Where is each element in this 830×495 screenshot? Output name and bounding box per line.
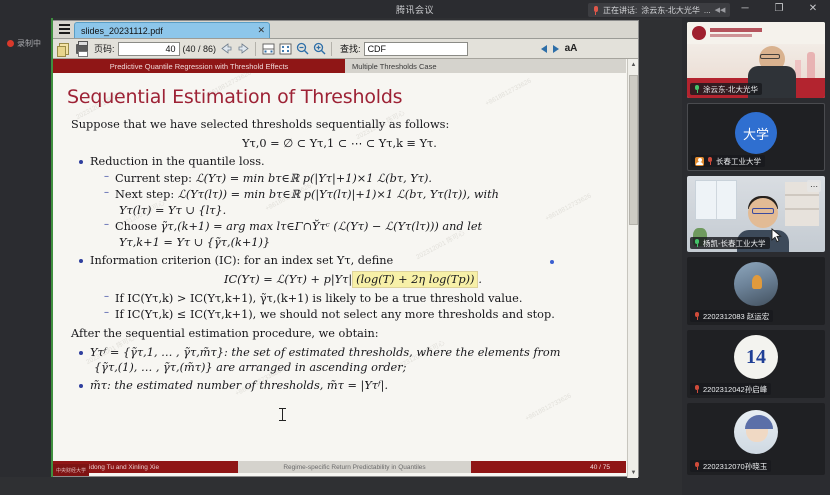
slide-title: Sequential Estimation of Thresholds — [67, 86, 616, 108]
pdf-vertical-scrollbar[interactable]: ▲ ▼ — [627, 59, 638, 478]
participant-name-badge: 2202312083 赵运宏 — [690, 310, 773, 322]
page-total-label: (40 / 86) — [183, 44, 217, 54]
slide-page: Predictive Quantile Regression with Thre… — [53, 59, 626, 476]
scroll-down-icon[interactable]: ▼ — [628, 467, 639, 478]
zoom-in-icon[interactable] — [312, 42, 326, 56]
copy-icon[interactable] — [56, 41, 71, 56]
slide-after-text: After the sequential estimation procedur… — [71, 326, 616, 342]
avatar — [734, 410, 778, 454]
print-icon[interactable] — [74, 41, 89, 56]
left-rail: 录制中 — [0, 18, 52, 477]
slide-result-list: Υτᶠ = {γ̃τ,1, … , γ̃τ,m̃τ}: the set of e… — [77, 345, 616, 394]
participant-name: 2202312042孙启峰 — [703, 384, 767, 395]
list-item: Current step: ℒ(Υτ) = min bτ∈ℝ p(|Υτ|+1)… — [104, 171, 616, 187]
text-cursor-icon — [279, 408, 286, 421]
bullet-reduction-text: Reduction in the quantile loss. — [90, 155, 265, 168]
sub-next-equation-2: Υτ(lτ) = Υτ ∪ {lτ}. — [119, 203, 616, 219]
scroll-up-icon[interactable]: ▲ — [628, 59, 639, 70]
close-button[interactable]: ✕ — [796, 0, 830, 18]
participant-video-sidebar: 涂云东-北大光华 大学 长春工业大学 ⋯ — [682, 18, 830, 495]
pdf-tab[interactable]: slides_20231112.pdf ✕ — [74, 22, 270, 38]
avatar: 14 — [734, 335, 778, 379]
arrow-left-icon[interactable] — [219, 42, 233, 56]
university-logo-icon — [692, 26, 706, 40]
slide-footer-logo: 中央财经大学 — [53, 464, 89, 476]
avatar — [734, 262, 778, 306]
participant-name: 2202312083 赵运宏 — [703, 311, 769, 322]
list-item: Information criterion (IC): for an index… — [77, 253, 616, 323]
list-item: If IC(Υτ,k) ≤ IC(Υτ,k+1), we should not … — [104, 307, 616, 323]
active-speaker-ellipsis: ... — [704, 6, 711, 15]
participant-name: 涂云东-北大光华 — [703, 84, 758, 95]
result-set-text: Υτᶠ = {γ̃τ,1, … , γ̃τ,m̃τ}: the set of e… — [90, 346, 560, 359]
list-item: m̃τ: the estimated number of thresholds,… — [77, 378, 616, 394]
slide-header: Predictive Quantile Regression with Thre… — [53, 59, 626, 73]
mic-on-icon — [694, 239, 700, 247]
video-tile-presenter[interactable]: 涂云东-北大光华 — [687, 22, 825, 98]
mic-off-icon — [694, 385, 700, 393]
collapse-speaker-icon[interactable]: ◀◀ — [715, 6, 726, 14]
result-count-text: m̃τ: the estimated number of thresholds,… — [90, 379, 388, 392]
find-nav: aA — [541, 43, 578, 54]
window-title: 腾讯会议 — [396, 3, 434, 16]
participant-name-badge: 杨凯-长春工业大学 — [690, 237, 770, 249]
host-icon — [695, 157, 704, 166]
sub-choose-equation-2: Υτ,k+1 = Υτ ∪ {γ̃τ,(k+1)} — [119, 235, 616, 251]
mic-on-icon — [694, 85, 700, 93]
slide-sub-list: Current step: ℒ(Υτ) = min bτ∈ℝ p(|Υτ|+1)… — [104, 171, 616, 251]
result-set-text-2: {γ̃τ,(1), … , γ̃τ,(m̃τ)} are arranged in… — [94, 360, 616, 376]
ic-condition-2: If IC(Υτ,k) ≤ IC(Υτ,k+1), we should not … — [115, 308, 555, 321]
list-item: Υτᶠ = {γ̃τ,1, … , γ̃τ,m̃τ}: the set of e… — [77, 345, 616, 376]
slide-intro-text: Suppose that we have selected thresholds… — [71, 117, 616, 133]
toolbar-divider — [255, 42, 256, 56]
ic-equation-highlight: (log(T) + 2η log(Tp)) — [352, 271, 478, 288]
pdf-tab-row: slides_20231112.pdf ✕ — [53, 21, 638, 39]
slide-header-section: Predictive Quantile Regression with Thre… — [53, 59, 345, 73]
mic-off-icon — [694, 462, 700, 470]
participant-name-badge: 涂云东-北大光华 — [690, 83, 762, 95]
active-speaker-prefix: 正在讲话: — [603, 5, 637, 16]
arrow-right-icon[interactable] — [236, 42, 250, 56]
find-prev-icon[interactable] — [541, 45, 547, 53]
recording-label: 录制中 — [17, 38, 41, 49]
sub-next-label: Next step: — [115, 188, 174, 201]
bullet-ic-text: Information criterion (IC): for an index… — [90, 254, 393, 267]
find-input[interactable]: CDF — [364, 42, 468, 56]
ic-condition-1: If IC(Υτ,k) > IC(Υτ,k+1), γ̃τ,(k+1) is l… — [115, 292, 522, 305]
sub-choose-equation: γ̃τ,(k+1) = arg max lτ∈Γ∩Ῠτᶜ (ℒ(Υτ) − ℒ… — [161, 220, 482, 233]
match-case-icon[interactable]: aA — [565, 43, 578, 54]
scrollbar-thumb[interactable] — [629, 75, 638, 225]
pdf-viewer-window: slides_20231112.pdf ✕ 页码: 40 (40 / 86) — [53, 20, 639, 477]
slide-bullet-list: Reduction in the quantile loss. Current … — [77, 154, 616, 323]
slide-sub-list-ic: If IC(Υτ,k) > IC(Υτ,k+1), γ̃τ,(k+1) is l… — [104, 291, 616, 323]
laser-pointer-dot — [550, 260, 554, 264]
ic-equation-end: . — [478, 273, 482, 286]
video-tile-yangkai[interactable]: ⋯ 杨凯-长春工业大学 — [687, 176, 825, 252]
avatar: 大学 — [735, 112, 777, 154]
slide-footer: idong Tu and Xinling Xie Regime-specific… — [53, 461, 626, 473]
list-item: If IC(Υτ,k) > IC(Υτ,k+1), γ̃τ,(k+1) is l… — [104, 291, 616, 307]
video-tile-university[interactable]: 大学 长春工业大学 — [687, 103, 825, 171]
mic-off-icon — [694, 312, 700, 320]
more-options-icon[interactable]: ⋯ — [807, 180, 821, 192]
toolbar-divider-2 — [331, 42, 332, 56]
slide-header-subsection: Multiple Thresholds Case — [345, 59, 626, 73]
zoom-out-icon[interactable] — [295, 42, 309, 56]
fit-page-icon[interactable] — [278, 42, 292, 56]
list-item: Next step: ℒ(Υτ(lτ)) = min bτ∈ℝ p(|Υτ(lτ… — [104, 187, 616, 218]
participant-name: 长春工业大学 — [716, 156, 761, 167]
pdf-page-area[interactable]: Predictive Quantile Regression with Thre… — [53, 59, 637, 476]
recording-dot-icon — [7, 40, 14, 47]
mic-off-icon — [707, 157, 713, 165]
participant-name-badge: 2202312042孙启峰 — [690, 383, 771, 395]
mouse-cursor-icon — [771, 228, 782, 243]
sub-choose-label: Choose — [115, 220, 157, 233]
ic-equation-row: IC(Υτ) = ℒ(Υτ) + p|Υτ|(log(T) + 2η log(T… — [90, 272, 616, 288]
find-label: 查找: — [340, 42, 361, 55]
slide-footer-page: 40 / 75 — [471, 461, 626, 473]
video-tile-zhaoyunhong[interactable]: 2202312083 赵运宏 — [687, 257, 825, 325]
meeting-app-window: 腾讯会议 ─ ❐ ✕ 正在讲话: 涂云东-北大光华 ... ◀◀ 录制中 sli… — [0, 0, 830, 495]
hamburger-icon[interactable] — [56, 21, 72, 37]
page-number-input[interactable]: 40 — [118, 42, 180, 56]
participant-name-badge: 2202312070孙晓玉 — [690, 460, 771, 472]
sub-current-label: Current step: — [115, 172, 192, 185]
minimize-button[interactable]: ─ — [728, 0, 762, 18]
video-tile-sunxiaoyu[interactable]: 2202312070孙晓玉 — [687, 403, 825, 475]
fit-width-icon[interactable] — [261, 42, 275, 56]
participant-name: 杨凯-长春工业大学 — [703, 238, 766, 249]
sub-current-equation: ℒ(Υτ) = min bτ∈ℝ p(|Υτ|+1)×1 ℒ(bτ, Υτ). — [195, 172, 432, 185]
video-tile-sunqifeng[interactable]: 14 2202312042孙启峰 — [687, 330, 825, 398]
active-speaker-indicator[interactable]: 正在讲话: 涂云东-北大光华 ... ◀◀ — [588, 3, 730, 17]
pdf-tab-label: slides_20231112.pdf — [81, 26, 163, 36]
pdf-toolbar: 页码: 40 (40 / 86) 查找: CDF — [53, 39, 638, 59]
window-controls: ─ ❐ ✕ — [728, 0, 830, 18]
find-next-icon[interactable] — [553, 45, 559, 53]
slide-equation-chain: Υτ,0 = ∅ ⊂ Υτ,1 ⊂ ⋯ ⊂ Υτ,k ≡ Υτ. — [63, 136, 616, 152]
page-number-label: 页码: — [94, 42, 115, 55]
active-speaker-name: 涂云东-北大光华 — [641, 5, 700, 16]
avatar-text: 大学 — [743, 124, 769, 143]
participant-name: 2202312070孙晓玉 — [703, 461, 767, 472]
avatar-text: 14 — [734, 335, 778, 379]
participant-name-badge: 长春工业大学 — [691, 155, 765, 167]
slide-body: Sequential Estimation of Thresholds Supp… — [53, 73, 626, 461]
list-item: Choose γ̃τ,(k+1) = arg max lτ∈Γ∩Ῠτᶜ (ℒ(… — [104, 219, 616, 250]
list-item: Reduction in the quantile loss. Current … — [77, 154, 616, 250]
sub-next-equation: ℒ(Υτ(lτ)) = min bτ∈ℝ p(|Υτ(lτ)|+1)×1 ℒ(b… — [178, 188, 499, 201]
recording-indicator[interactable]: 录制中 — [7, 38, 41, 49]
maximize-button[interactable]: ❐ — [762, 0, 796, 18]
ic-equation-left: IC(Υτ) = ℒ(Υτ) + p|Υτ| — [224, 273, 352, 286]
close-icon[interactable]: ✕ — [249, 25, 265, 36]
slide-footer-title: Regime-specific Return Predictability in… — [238, 461, 471, 473]
mic-icon — [592, 6, 599, 15]
